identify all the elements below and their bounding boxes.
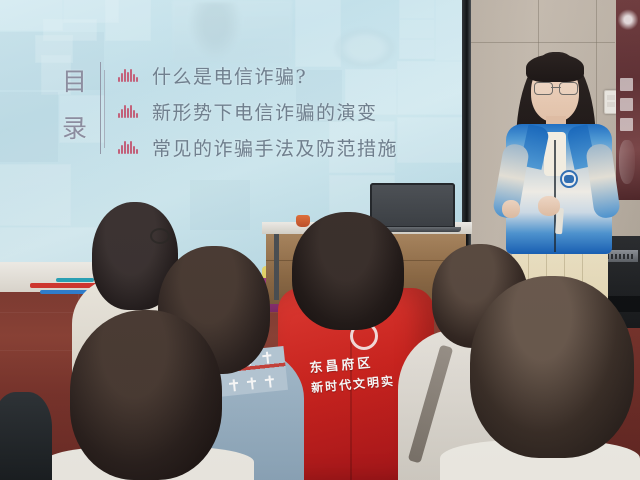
sound-bar-bullet-icon [118, 105, 140, 118]
slide-bullet-text: 什么是电信诈骗? [152, 62, 307, 89]
slide-bullet-text: 新形势下电信诈骗的演变 [152, 98, 378, 125]
jacket-badge-icon [560, 170, 578, 188]
presenter-hand-right [538, 196, 560, 216]
sound-bar-bullet-icon [118, 141, 140, 154]
wall-seam [455, 42, 615, 43]
presenter-glasses [534, 82, 578, 94]
poster-emblem-icon [618, 8, 638, 34]
slide-bullet-row: 常见的诈骗手法及防范措施 [118, 132, 468, 163]
presenter-hand-left [502, 200, 520, 218]
slide-bullet-row: 什么是电信诈骗? [118, 60, 468, 91]
slide-bullet-row: 新形势下电信诈骗的演变 [118, 96, 468, 127]
slide-bullet-text: 常见的诈骗手法及防范措施 [152, 134, 398, 161]
slide-heading-contents: 目录 [52, 58, 98, 154]
table-item-teal [56, 278, 94, 282]
slide-heading-divider [100, 62, 101, 154]
slide-bullet-list: 什么是电信诈骗? 新形势下电信诈骗的演变 常见的诈骗手法及防范措 [118, 60, 468, 168]
attendee-hair [70, 310, 222, 480]
photo-scene: 目录 什么是电信诈骗? 新形势下电信 [0, 0, 640, 480]
attendee-hair [470, 276, 634, 458]
table-item-blue [40, 290, 88, 294]
desk-leg [274, 234, 279, 300]
slide-heading-divider-2 [104, 70, 105, 148]
attendee-hair [292, 212, 404, 330]
attendee-edge-left [0, 392, 52, 480]
sound-bar-bullet-icon [118, 69, 140, 82]
attendee-glasses [150, 228, 170, 244]
orange-cup [296, 215, 310, 227]
presenter-hair-front [526, 54, 584, 82]
laptop[interactable] [370, 183, 455, 228]
